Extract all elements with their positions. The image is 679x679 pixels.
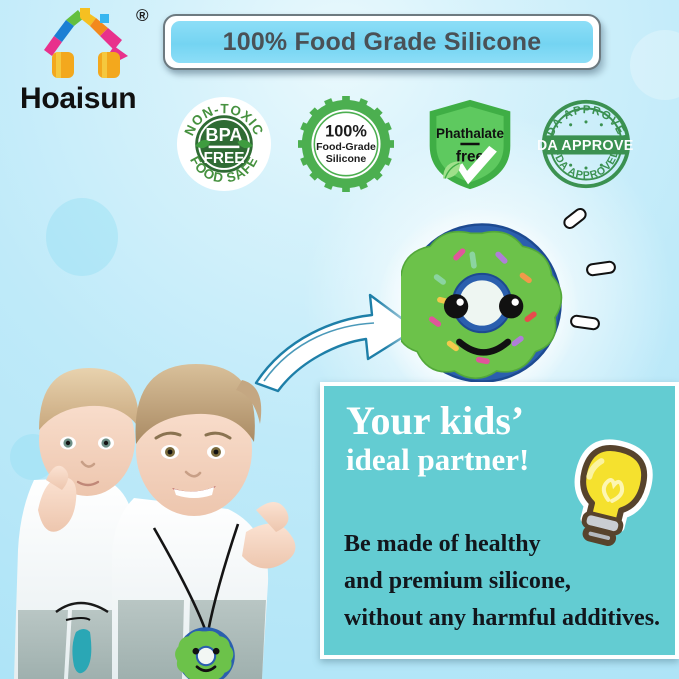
- product-infographic: ® Hoaisun 100% Food Grade Silicone NON-T…: [0, 0, 679, 679]
- lightbulb-icon: [553, 438, 665, 556]
- children-photo: [0, 180, 344, 679]
- shine-mark: [585, 260, 617, 277]
- headline-banner: 100% Food Grade Silicone: [163, 14, 601, 70]
- banner-text: 100% Food Grade Silicone: [223, 28, 542, 57]
- phathalate-free-shield-icon: Phathalate free: [422, 96, 518, 192]
- svg-text:FREE: FREE: [204, 150, 245, 167]
- bpa-free-badge-icon: NON-TOXIC FOOD SAFE BPA FREE: [176, 96, 272, 192]
- food-grade-silicone-badge-icon: 100% Food-Grade Silicone: [298, 96, 394, 192]
- fda-approved-stamp-icon: FDA APPROVED FDA APPROVED FDA APPROVED: [538, 96, 634, 192]
- svg-text:FDA APPROVED: FDA APPROVED: [538, 138, 634, 154]
- house-arch-logo-icon: [40, 6, 136, 78]
- registered-mark: ®: [136, 6, 149, 26]
- shine-mark: [561, 205, 589, 231]
- decorative-bubble: [630, 30, 679, 100]
- headline-line-1: Your kids’: [346, 400, 596, 442]
- svg-text:100%: 100%: [325, 122, 367, 140]
- brand-logo: ® Hoaisun: [14, 4, 164, 114]
- svg-text:Phathalate: Phathalate: [436, 126, 504, 141]
- body-line-3: without any harmful additives.: [344, 600, 669, 637]
- donut-chew-pendant-product: [401, 222, 563, 384]
- body-line-2: and premium silicone,: [344, 563, 669, 600]
- svg-text:Food-Grade: Food-Grade: [316, 141, 376, 153]
- child-right: [112, 364, 295, 679]
- brand-name: Hoaisun: [20, 82, 136, 116]
- svg-text:Silicone: Silicone: [326, 153, 367, 165]
- svg-text:BPA: BPA: [205, 124, 242, 145]
